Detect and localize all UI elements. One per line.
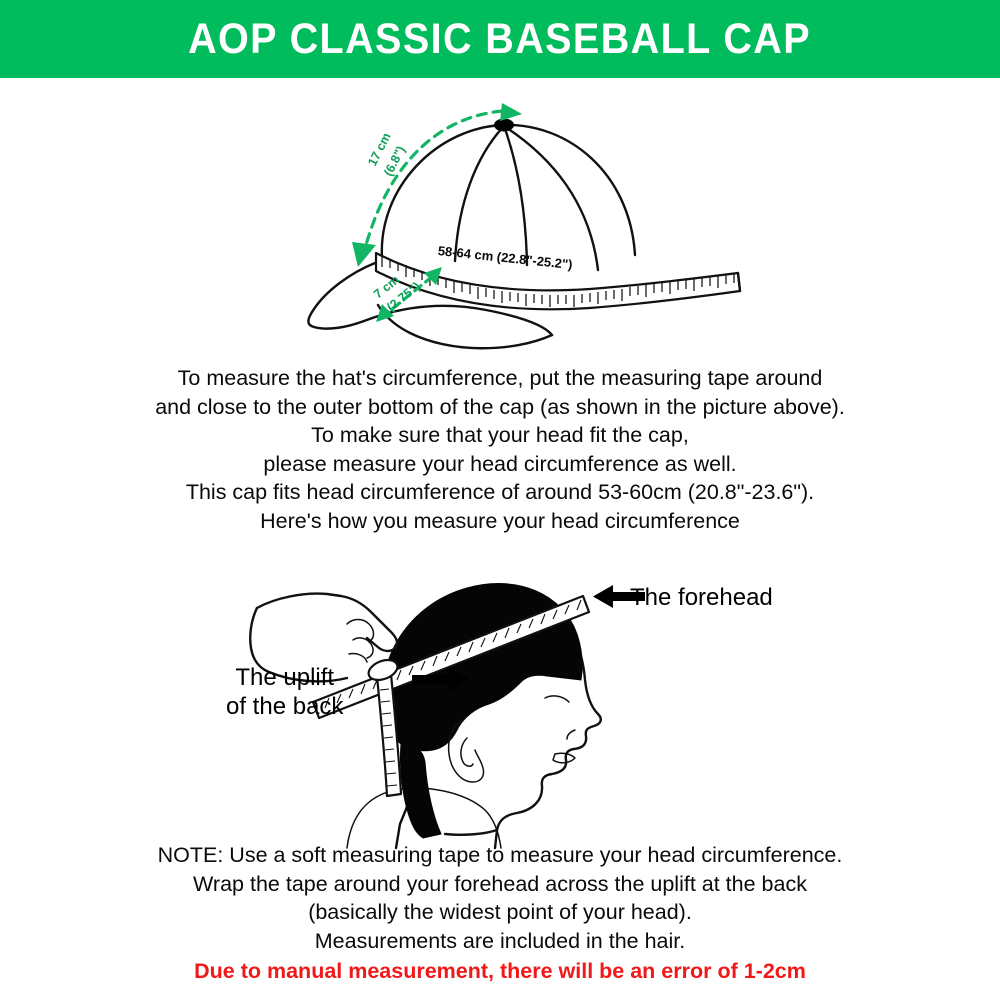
size-guide-page: AOP CLASSIC BASEBALL CAP xyxy=(0,0,1000,1000)
instruction-line-1: To measure the hat's circumference, put … xyxy=(0,364,1000,393)
measuring-instructions: To measure the hat's circumference, put … xyxy=(0,364,1000,535)
note-line-2: Wrap the tape around your forehead acros… xyxy=(0,870,1000,899)
cap-circumference-label: 58-64 cm (22.8"-25.2") xyxy=(437,243,573,272)
instruction-line-4: please measure your head circumference a… xyxy=(0,450,1000,479)
instruction-line-3: To make sure that your head fit the cap, xyxy=(0,421,1000,450)
note-line-4: Measurements are included in the hair. xyxy=(0,927,1000,956)
header-banner: AOP CLASSIC BASEBALL CAP xyxy=(0,0,1000,78)
page-title: AOP CLASSIC BASEBALL CAP xyxy=(189,18,812,61)
note-block: NOTE: Use a soft measuring tape to measu… xyxy=(0,841,1000,986)
note-line-3: (basically the widest point of your head… xyxy=(0,898,1000,927)
callout-uplift-of-back: The uplift of the back xyxy=(226,663,343,721)
cap-diagram: 58-64 cm (22.8"-25.2") 17 cm (6.8") 7 cm… xyxy=(290,95,750,355)
instruction-line-5: This cap fits head circumference of arou… xyxy=(0,478,1000,507)
callout-uplift-line-1: The uplift xyxy=(226,663,343,692)
measurement-error-warning: Due to manual measurement, there will be… xyxy=(0,957,1000,986)
note-line-1: NOTE: Use a soft measuring tape to measu… xyxy=(0,841,1000,870)
callout-forehead: The forehead xyxy=(630,583,773,612)
instruction-line-6: Here's how you measure your head circumf… xyxy=(0,507,1000,536)
callout-uplift-line-2: of the back xyxy=(226,692,343,721)
callout-forehead-label: The forehead xyxy=(630,584,773,611)
instruction-line-2: and close to the outer bottom of the cap… xyxy=(0,393,1000,422)
